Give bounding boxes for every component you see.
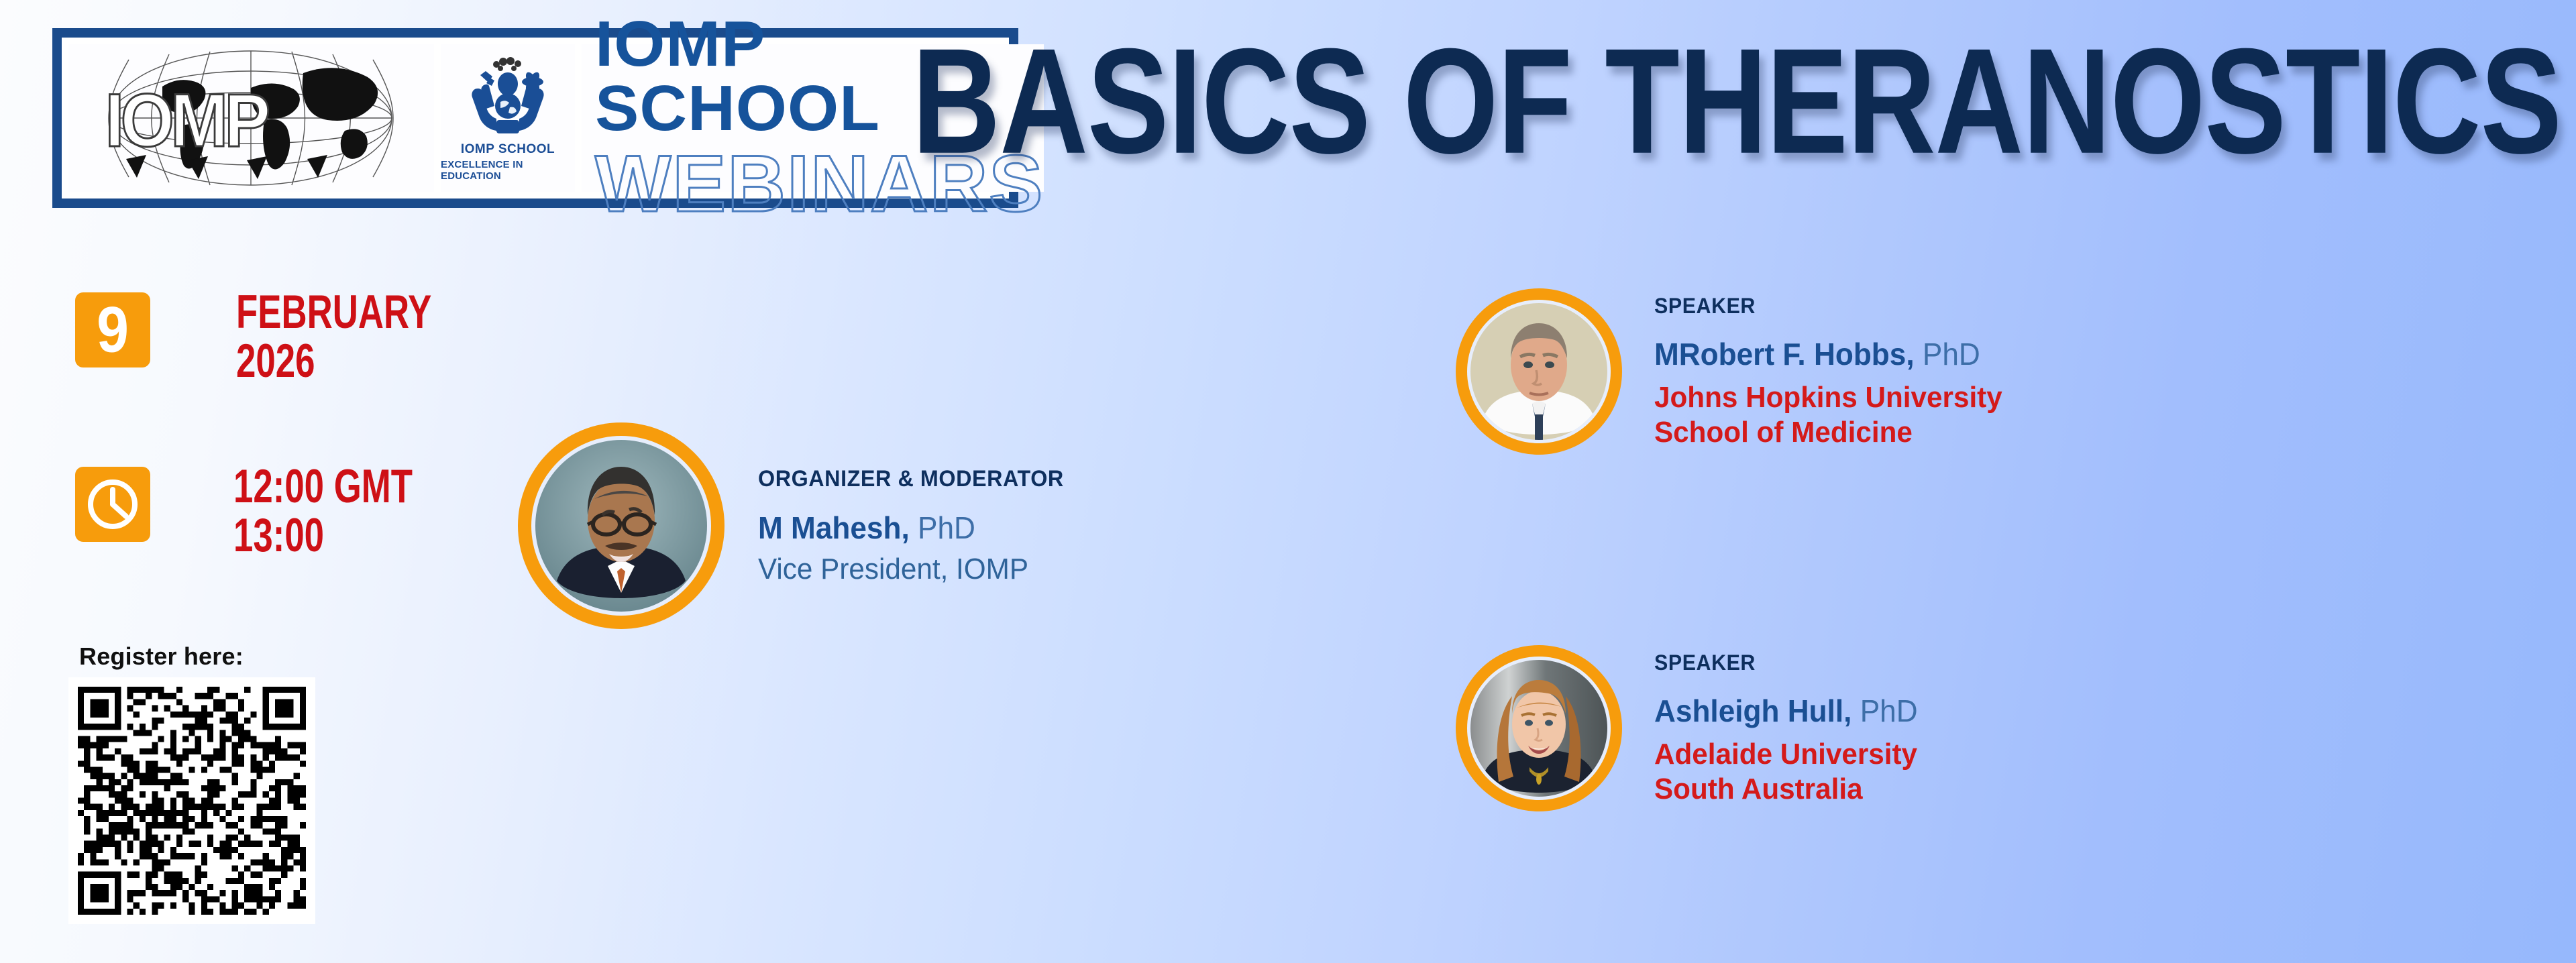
moderator-block: ORGANIZER & MODERATOR M Mahesh, PhD Vice…: [518, 422, 1080, 629]
speaker-1-name-line: MRobert F. Hobbs, PhD: [1654, 336, 2002, 372]
speaker-2-affiliation-line1: Adelaide University: [1654, 737, 1918, 771]
school-emblem-line1: IOMP SCHOOL: [461, 142, 555, 157]
speaker-1-affiliation: Johns Hopkins University School of Medic…: [1654, 380, 2002, 449]
qr-canvas: [78, 687, 306, 915]
speaker-1-name: MRobert F. Hobbs,: [1654, 337, 1915, 372]
speaker-2-name-line: Ashleigh Hull, PhD: [1654, 693, 1918, 729]
event-date-text: FEBRUARY 2026: [236, 288, 431, 386]
moderator-text: ORGANIZER & MODERATOR M Mahesh, PhD Vice…: [758, 466, 1080, 586]
hands-globe-icon: [460, 55, 555, 139]
moderator-photo-ring: [518, 422, 724, 629]
moderator-avatar: [535, 440, 707, 612]
speaker-1-photo-ring: [1456, 288, 1622, 455]
speaker-1-text: SPEAKER MRobert F. Hobbs, PhD Johns Hopk…: [1654, 294, 2017, 449]
event-time-secondary: 13:00: [233, 511, 413, 561]
speaker-1-affiliation-line1: Johns Hopkins University: [1654, 380, 2002, 414]
event-time-text: 12:00 GMT 13:00: [233, 462, 413, 561]
speaker-2-affiliation-line2: South Australia: [1654, 772, 1918, 806]
registration-qr-code[interactable]: [68, 677, 315, 924]
moderator-name-line: M Mahesh, PhD: [758, 510, 1067, 546]
moderator-name: M Mahesh,: [758, 510, 910, 545]
clock-icon: [85, 476, 141, 532]
speaker-2-affiliation: Adelaide University South Australia: [1654, 737, 1918, 805]
speaker-2-text: SPEAKER Ashleigh Hull, PhD Adelaide Univ…: [1654, 650, 1929, 805]
event-day: 9: [97, 298, 129, 362]
register-label: Register here:: [79, 642, 244, 671]
iomp-wordmark: IOMP: [105, 77, 266, 164]
speaker-block-1: SPEAKER MRobert F. Hobbs, PhD Johns Hopk…: [1456, 288, 2017, 455]
school-emblem-line2: EXCELLENCE IN EDUCATION: [441, 159, 575, 182]
time-chip: [75, 467, 150, 542]
event-time-primary: 12:00 GMT: [233, 462, 413, 512]
iomp-globe-logo: IOMP: [68, 44, 434, 192]
globe-graphic: IOMP: [82, 46, 421, 190]
speaker-2-photo-ring: [1456, 645, 1622, 811]
speaker-1-credential: PhD: [1923, 337, 1980, 372]
speaker-1-role: SPEAKER: [1654, 294, 1998, 319]
moderator-role: ORGANIZER & MODERATOR: [758, 466, 1064, 492]
moderator-credential: PhD: [918, 510, 975, 545]
speaker-2-role: SPEAKER: [1654, 650, 1915, 675]
moderator-position: Vice President, IOMP: [758, 553, 1067, 586]
speaker-2-avatar: [1470, 660, 1607, 797]
speaker-1-affiliation-line2: School of Medicine: [1654, 415, 2002, 449]
iomp-school-emblem: IOMP SCHOOL EXCELLENCE IN EDUCATION: [441, 44, 575, 192]
event-month: FEBRUARY: [236, 288, 431, 337]
speaker-block-2: SPEAKER Ashleigh Hull, PhD Adelaide Univ…: [1456, 645, 1929, 811]
page-title: BASICS OF THERANOSTICS: [969, 10, 2561, 193]
speaker-2-credential: PhD: [1860, 693, 1918, 728]
event-year: 2026: [236, 337, 431, 386]
date-chip: 9: [75, 292, 150, 367]
speaker-1-avatar: [1470, 303, 1607, 440]
iomp-logo-bar: IOMP: [52, 28, 1018, 208]
speaker-2-name: Ashleigh Hull,: [1654, 693, 1851, 728]
